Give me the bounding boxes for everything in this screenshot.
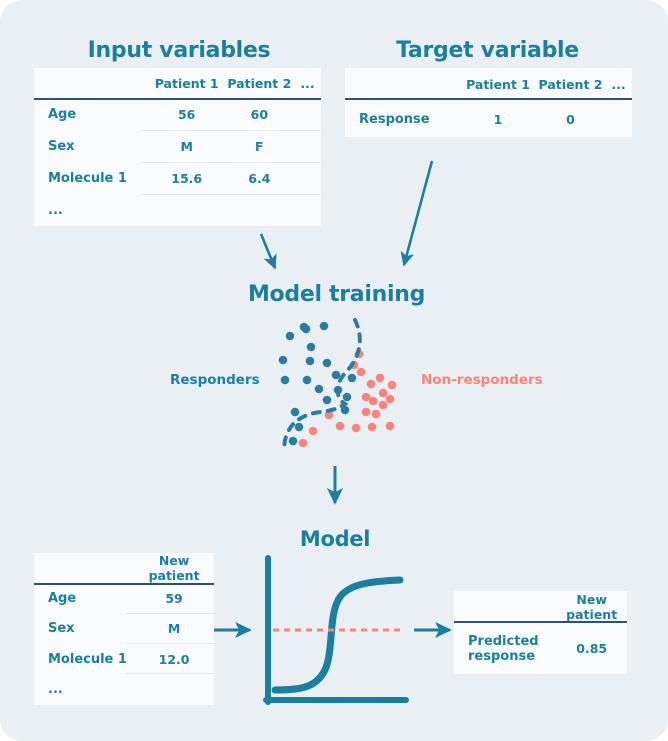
arrow-input-to-training xyxy=(261,234,275,268)
cell-sex-ellipsis xyxy=(294,130,321,162)
cell-more-patient-2 xyxy=(225,194,294,226)
arrow-target-to-training xyxy=(404,161,432,265)
table-row: Age 56 60 xyxy=(34,98,321,130)
cell-sex-patient-2: F xyxy=(225,130,294,162)
cell-response-patient-1: 1 xyxy=(460,101,536,137)
scatter-responders-points xyxy=(279,322,357,446)
column-header-patient-1: Patient 1 xyxy=(460,68,536,101)
column-header-blank xyxy=(34,68,149,98)
page-title-model-training: Model training xyxy=(169,282,504,307)
table-row: Sex M xyxy=(34,614,214,644)
input-table-header-rule xyxy=(34,98,321,100)
cell-age-new-patient: 59 xyxy=(134,583,214,613)
table-header-row: New patient xyxy=(454,591,627,623)
target-variable-table: Patient 1 Patient 2 ... Response 1 0 xyxy=(345,68,632,137)
table-row: ... xyxy=(34,675,214,705)
page-title-model: Model xyxy=(245,527,425,551)
cell-sex-new-patient: M xyxy=(134,614,214,644)
cell-age-patient-1: 56 xyxy=(149,98,225,130)
input-table-separator xyxy=(140,162,321,163)
column-header-new-patient: New patient xyxy=(556,591,627,623)
row-label-more: ... xyxy=(34,194,149,226)
cell-more-patient-1 xyxy=(149,194,225,226)
row-label-more: ... xyxy=(34,675,134,705)
new-patient-table: New patient Age 59 Sex M Molecule 1 12.0… xyxy=(34,553,214,705)
row-label-response: Response xyxy=(345,101,460,137)
table-header-row: Patient 1 Patient 2 ... xyxy=(345,68,632,101)
row-label-age: Age xyxy=(34,98,149,130)
new-patient-separator xyxy=(126,673,214,674)
cell-sex-patient-1: M xyxy=(149,130,225,162)
prediction-header-rule xyxy=(454,621,627,623)
cell-molecule-1-ellipsis xyxy=(294,162,321,194)
input-table-separator xyxy=(140,194,321,195)
column-header-blank xyxy=(34,553,134,583)
new-patient-separator xyxy=(126,613,214,614)
table-row: Sex M F xyxy=(34,130,321,162)
cell-molecule-1-patient-2: 6.4 xyxy=(225,162,294,194)
column-header-ellipsis: ... xyxy=(605,68,632,101)
table-row: Predicted response 0.85 xyxy=(454,623,627,674)
sigmoid-curve xyxy=(275,580,400,690)
table-row: Molecule 1 15.6 6.4 xyxy=(34,162,321,194)
legend-responders: Responders xyxy=(170,372,260,388)
row-label-sex: Sex xyxy=(34,130,149,162)
input-variables-table: Patient 1 Patient 2 ... Age 56 60 Sex M … xyxy=(34,68,321,226)
diagram-canvas: Input variables Target variable Model tr… xyxy=(0,0,668,741)
cell-more-new-patient xyxy=(134,675,214,705)
row-label-molecule-1: Molecule 1 xyxy=(34,644,134,674)
page-title-input-variables: Input variables xyxy=(34,38,324,63)
cell-response-ellipsis xyxy=(605,101,632,137)
decision-boundary-curve xyxy=(284,320,359,452)
cell-molecule-1-patient-1: 15.6 xyxy=(149,162,225,194)
target-table-header-rule xyxy=(345,98,632,100)
row-label-molecule-1: Molecule 1 xyxy=(34,162,149,194)
column-header-new-patient: New patient xyxy=(134,553,214,583)
new-patient-header-rule xyxy=(34,583,214,585)
row-label-sex: Sex xyxy=(34,614,134,644)
table-row: Response 1 0 xyxy=(345,101,632,137)
table-row: Age 59 xyxy=(34,583,214,613)
column-header-blank xyxy=(454,591,556,623)
scatter-non-responders-points xyxy=(299,350,397,448)
table-header-row: New patient xyxy=(34,553,214,583)
model-sigmoid-plot xyxy=(266,558,406,702)
cell-more-ellipsis xyxy=(294,194,321,226)
table-row: Molecule 1 12.0 xyxy=(34,644,214,674)
legend-non-responders: Non-responders xyxy=(421,372,543,388)
cell-response-patient-2: 0 xyxy=(536,101,605,137)
column-header-blank xyxy=(345,68,460,101)
row-label-age: Age xyxy=(34,583,134,613)
cell-age-patient-2: 60 xyxy=(225,98,294,130)
input-table-separator xyxy=(140,130,321,131)
column-header-patient-2: Patient 2 xyxy=(225,68,294,98)
cell-age-ellipsis xyxy=(294,98,321,130)
column-header-patient-1: Patient 1 xyxy=(149,68,225,98)
page-title-target-variable: Target variable xyxy=(345,38,630,63)
cell-molecule-1-new-patient: 12.0 xyxy=(134,644,214,674)
table-row: ... xyxy=(34,194,321,226)
row-label-predicted-response: Predicted response xyxy=(454,623,556,674)
prediction-table: New patient Predicted response 0.85 xyxy=(454,591,627,674)
table-header-row: Patient 1 Patient 2 ... xyxy=(34,68,321,98)
cell-predicted-response-value: 0.85 xyxy=(556,623,627,674)
column-header-ellipsis: ... xyxy=(294,68,321,98)
new-patient-separator xyxy=(126,643,214,644)
column-header-patient-2: Patient 2 xyxy=(536,68,605,101)
